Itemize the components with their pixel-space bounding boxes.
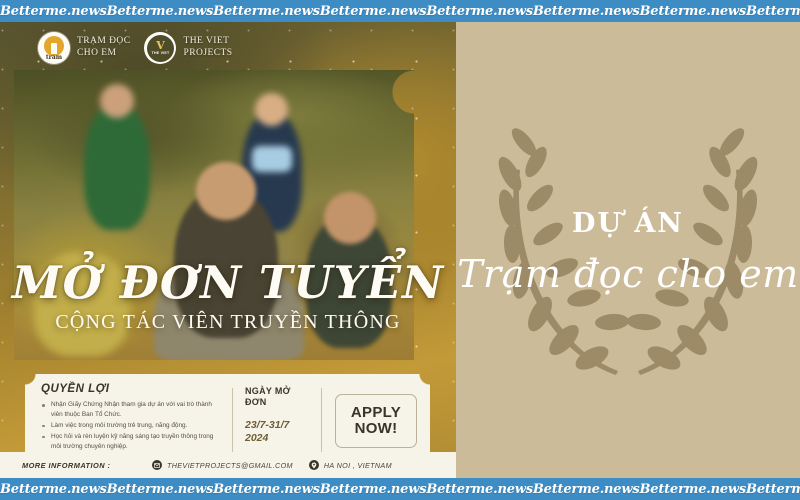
watermark-text: Betterme.news xyxy=(426,4,533,19)
photo-background xyxy=(14,70,414,360)
footer-email-text: THEVIETPROJECTS@GMAIL.COM xyxy=(167,461,293,470)
brand-tram-doc-cho-em: tram TRẠM ĐỌC CHO EM xyxy=(38,32,130,64)
watermark-text: Betterme.news xyxy=(0,482,107,497)
more-information-label: MORE INFORMATION : xyxy=(22,461,152,470)
laurel-wreath-decoration xyxy=(456,22,800,478)
watermark-text: Betterme.news xyxy=(533,4,640,19)
watermark-text: Betterme.news xyxy=(0,4,107,19)
location-pin-icon xyxy=(309,460,319,470)
brand-row: tram TRẠM ĐỌC CHO EM V THE VIET THE VIET… xyxy=(38,32,233,64)
benefit-item: Học hỏi và rèn luyện kỹ năng sáng tạo tr… xyxy=(41,432,222,452)
book-stack-icon xyxy=(44,36,64,56)
watermark-text: Betterme.news xyxy=(746,4,800,19)
brand-the-viet-projects-label: THE VIET PROJECTS xyxy=(183,36,232,59)
brand-the-viet-projects: V THE VIET THE VIET PROJECTS xyxy=(144,32,232,64)
watermark-text: Betterme.news xyxy=(320,4,427,19)
poster-panel: tram TRẠM ĐỌC CHO EM V THE VIET THE VIET… xyxy=(0,22,456,478)
screenshot-stage: Betterme.newsBetterme.newsBetterme.newsB… xyxy=(0,0,800,500)
apply-now-button[interactable]: APPLY NOW! xyxy=(335,394,417,448)
watermark-text: Betterme.news xyxy=(213,482,320,497)
right-panel: DỰ ÁN Trạm đọc cho em xyxy=(456,22,800,478)
watermark-bar-top: Betterme.newsBetterme.newsBetterme.newsB… xyxy=(0,0,800,22)
watermark-text: Betterme.news xyxy=(746,482,800,497)
the-viet-projects-logo-submark: THE VIET xyxy=(152,52,170,56)
photo-figure xyxy=(34,252,130,356)
the-viet-projects-logo-inner: V THE VIET xyxy=(147,35,174,62)
footer-email[interactable]: THEVIETPROJECTS@GMAIL.COM xyxy=(152,460,293,470)
watermark-text: Betterme.news xyxy=(426,482,533,497)
poster-photo xyxy=(14,70,414,360)
benefit-item: Nhận Giấy Chứng Nhận tham gia dự án với … xyxy=(41,400,222,420)
watermark-text: Betterme.news xyxy=(639,482,746,497)
email-icon xyxy=(152,460,162,470)
poster-footer: MORE INFORMATION : THEVIETPROJECTS@GMAIL… xyxy=(0,452,456,478)
date-value: 23/7-31/7 2024 xyxy=(245,419,315,445)
tram-doc-cho-em-logo: tram xyxy=(38,32,70,64)
the-viet-projects-logo: V THE VIET xyxy=(144,32,176,64)
right-panel-title: DỰ ÁN xyxy=(456,208,800,239)
right-panel-script-title: Trạm đọc cho em xyxy=(456,254,800,296)
footer-location[interactable]: HA NOI , VIETNAM xyxy=(309,460,392,470)
watermark-text: Betterme.news xyxy=(320,482,427,497)
the-viet-projects-logo-mark: V xyxy=(156,40,165,51)
tram-doc-cho-em-logo-mark: tram xyxy=(46,55,62,61)
benefit-item: Làm việc trong môi trường trẻ trung, năn… xyxy=(41,421,222,431)
watermark-text: Betterme.news xyxy=(107,4,214,19)
photo-figure xyxy=(84,104,150,230)
watermark-text: Betterme.news xyxy=(533,482,640,497)
watermark-text: Betterme.news xyxy=(639,4,746,19)
footer-location-text: HA NOI , VIETNAM xyxy=(324,461,392,470)
laurel-wreath-icon xyxy=(456,22,800,478)
brand-tram-doc-cho-em-label: TRẠM ĐỌC CHO EM xyxy=(77,36,130,59)
photo-figure xyxy=(174,188,278,338)
watermark-bar-bottom: Betterme.newsBetterme.newsBetterme.newsB… xyxy=(0,478,800,500)
benefits-title: QUYỀN LỢI xyxy=(41,383,222,395)
photo-figure xyxy=(306,216,392,348)
date-label: NGÀY MỞ ĐƠN xyxy=(245,386,315,408)
watermark-text: Betterme.news xyxy=(107,482,214,497)
watermark-text: Betterme.news xyxy=(213,4,320,19)
